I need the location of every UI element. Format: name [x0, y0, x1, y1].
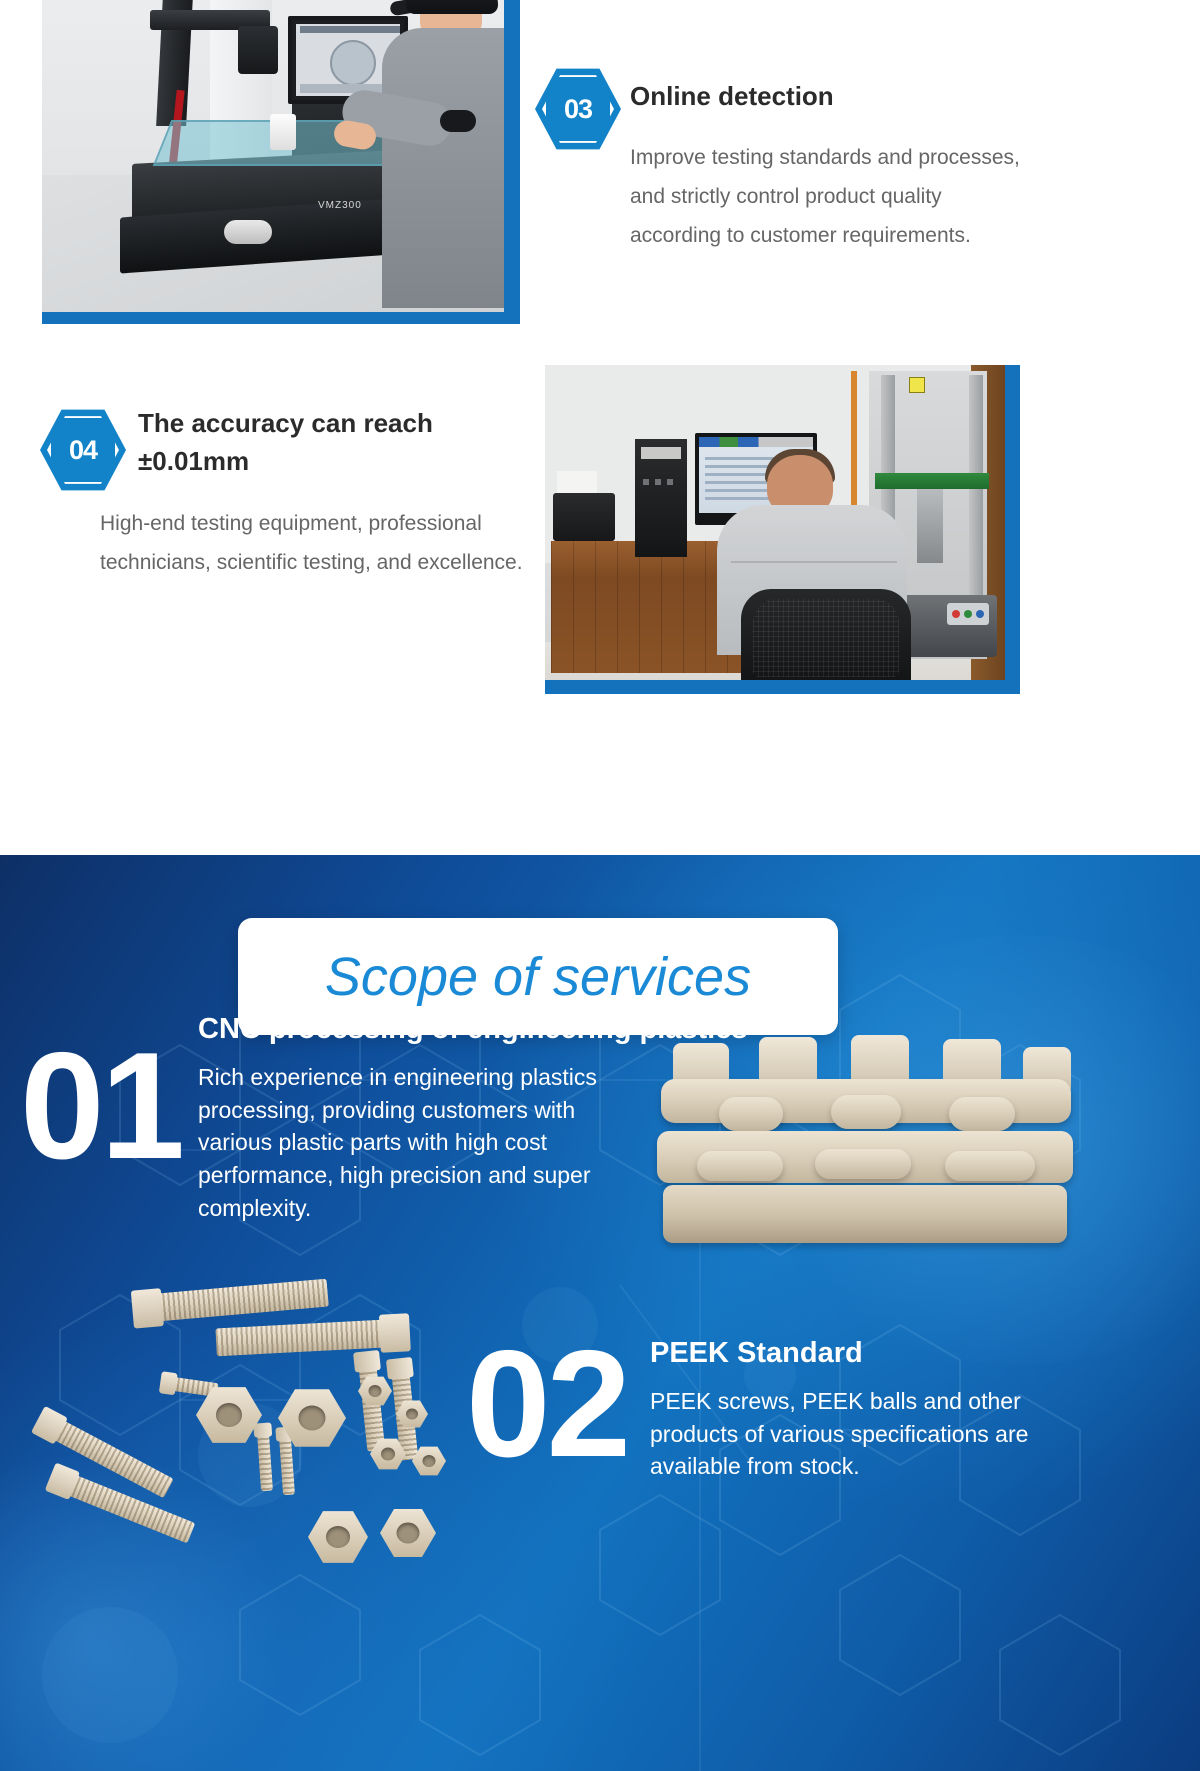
bolt-tiny-2	[279, 1437, 295, 1496]
service-body-02: PEEK screws, PEEK balls and other produc…	[650, 1385, 1030, 1483]
feature-title-04: The accuracy can reach ±0.01mm	[138, 405, 486, 480]
service-title-01: CNC processing of engineering plastics	[198, 1013, 958, 1046]
hexagon-badge-03: 03	[535, 66, 621, 152]
product-capability-page: VMZ300 03 Online detection Improve test	[0, 0, 1200, 1771]
hexagon-badge-04: 04	[40, 407, 126, 493]
nut-large-4	[380, 1508, 436, 1558]
scope-title-text: Scope of services	[325, 946, 751, 1008]
peek-chain-plate-photo	[655, 1035, 1075, 1265]
feature-number-04: 04	[40, 407, 126, 493]
feature-body-04: High-end testing equipment, professional…	[100, 504, 530, 582]
feature-number-03: 03	[535, 66, 621, 152]
scope-of-services-section: Scope of services 01 CNC processing of e…	[0, 855, 1200, 1771]
feature-04: 04 The accuracy can reach ±0.01mm High-e…	[138, 405, 538, 582]
service-title-02: PEEK Standard	[650, 1337, 1070, 1370]
feature-03: 03 Online detection Improve testing stan…	[630, 78, 1030, 255]
service-body-01: Rich experience in engineering plastics …	[198, 1061, 603, 1224]
service-number-02: 02	[466, 1335, 627, 1475]
bolt-large-2	[215, 1320, 384, 1357]
features-section: VMZ300 03 Online detection Improve test	[0, 0, 1200, 855]
online-detection-photo-frame: VMZ300	[42, 0, 520, 324]
bolt-medium-2	[67, 1474, 196, 1543]
accuracy-testing-photo	[545, 365, 1005, 680]
online-detection-photo: VMZ300	[42, 0, 504, 312]
bolt-tiny-1	[257, 1433, 273, 1492]
feature-body-03: Improve testing standards and processes,…	[630, 138, 1030, 255]
accuracy-photo-frame	[545, 365, 1020, 694]
feature-title-03: Online detection	[630, 78, 1030, 116]
service-number-01: 01	[20, 1037, 181, 1177]
nut-large-3	[308, 1510, 368, 1564]
measuring-machine-scene: VMZ300	[42, 0, 504, 312]
tensile-test-lab-scene	[545, 365, 1005, 680]
bolt-large-1	[157, 1279, 329, 1322]
peek-screws-photo	[40, 1270, 460, 1570]
